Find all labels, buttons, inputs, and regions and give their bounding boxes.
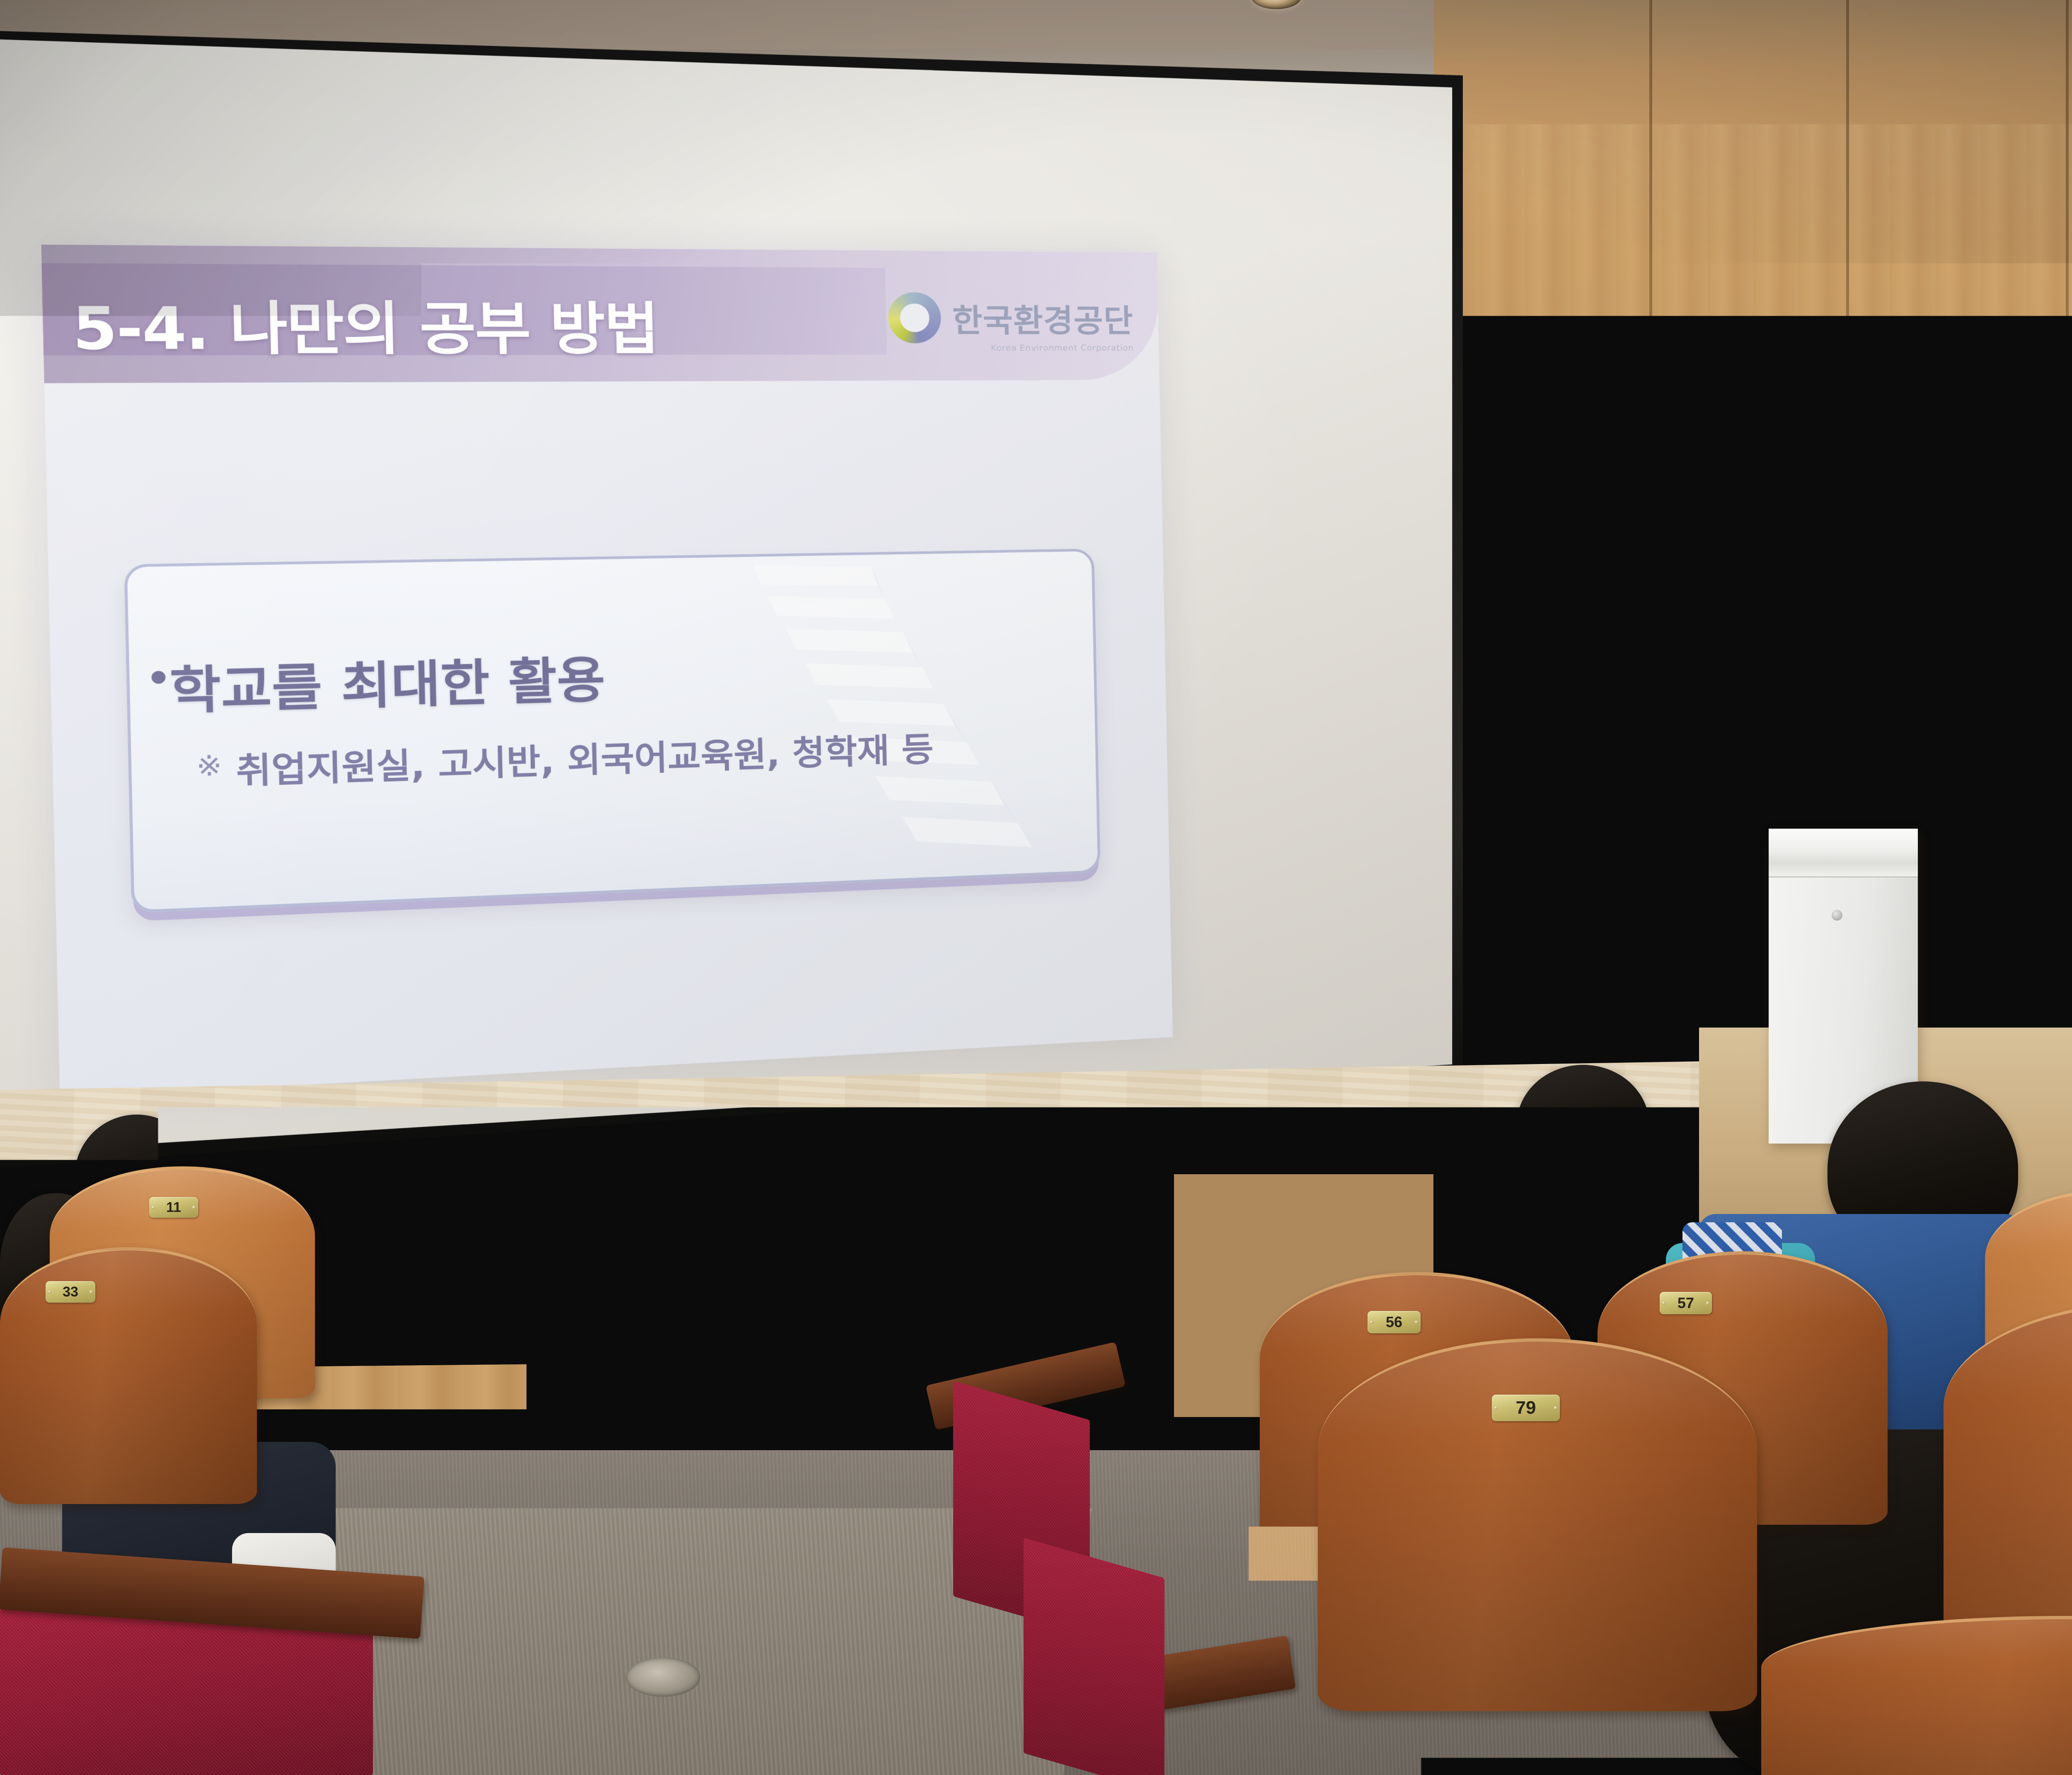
wall-outlet-icon xyxy=(1469,982,1495,1020)
eyeglasses-icon xyxy=(1948,682,2006,696)
seat-number-plate: 11 xyxy=(149,1197,198,1218)
wood-wall-upper-band xyxy=(1434,0,2072,124)
seat-back[interactable]: 15 xyxy=(1598,1127,1780,1272)
seat-cushion xyxy=(1144,1678,1517,1775)
wood-wall-seam xyxy=(1649,0,1652,1119)
bullet-dot-icon xyxy=(151,671,165,684)
seat-back[interactable]: 79 xyxy=(1318,1338,1757,1711)
seat-number-plate: 57 xyxy=(1660,1292,1712,1314)
organization-logo-subtext: Korea Environment Corporation xyxy=(991,343,1134,353)
slide-body: 학교를 최대한 활용 ※ 취업지원실, 고시반, 외국어교육원, 청학재 등 xyxy=(44,380,1173,1098)
slide-bullet-primary: 학교를 최대한 활용 xyxy=(169,640,606,724)
presenter-leg-right xyxy=(1977,935,2031,1104)
slide-content-box: 학교를 최대한 활용 ※ 취업지원실, 고시반, 외국어교육원, 청학재 등 xyxy=(124,549,1101,913)
seat-back[interactable]: 33 xyxy=(0,1247,257,1504)
av-cabinet-top xyxy=(1769,829,1918,878)
floor-vent-icon xyxy=(626,1657,700,1697)
cabinet-lock-icon[interactable] xyxy=(1832,910,1842,921)
auditorium-scene: 5-4. 나만의 공부 방법 한국환경공단 Korea Environment … xyxy=(0,0,2072,1775)
stairs-illustration-icon xyxy=(735,556,1080,868)
seat-cushion xyxy=(1024,1538,1164,1775)
slide-title: 5-4. 나만의 공부 방법 xyxy=(71,281,659,366)
bullet-asterisk-icon: ※ xyxy=(196,749,223,783)
projection-screen: 5-4. 나만의 공부 방법 한국환경공단 Korea Environment … xyxy=(0,7,1463,1180)
presenter-legs xyxy=(1934,936,2026,1102)
ring-logo-icon xyxy=(888,292,941,343)
seat-back[interactable]: 103 xyxy=(1761,1616,2072,1775)
projected-slide: 5-4. 나만의 공부 방법 한국환경공단 Korea Environment … xyxy=(41,244,1173,1098)
seat-number-plate: 56 xyxy=(1368,1311,1421,1333)
presenter-hand-right xyxy=(1943,702,1969,731)
seat-number-plate: 33 xyxy=(46,1281,95,1303)
seat-number-plate: 34 xyxy=(1202,1212,1250,1232)
organization-logo-text: 한국환경공단 xyxy=(952,295,1134,341)
door-handle-icon[interactable] xyxy=(1852,616,1858,648)
seat-number-plate: 15 xyxy=(1701,1140,1743,1158)
organization-logo: 한국환경공단 xyxy=(888,292,1134,343)
seat-number-plate: 36 xyxy=(1817,1212,1865,1232)
seat-number-plate: 79 xyxy=(1492,1395,1560,1421)
wood-wall-seam xyxy=(2066,0,2069,1119)
presenter-leg-left xyxy=(1929,935,1980,1103)
seat-cushion xyxy=(0,1608,373,1775)
